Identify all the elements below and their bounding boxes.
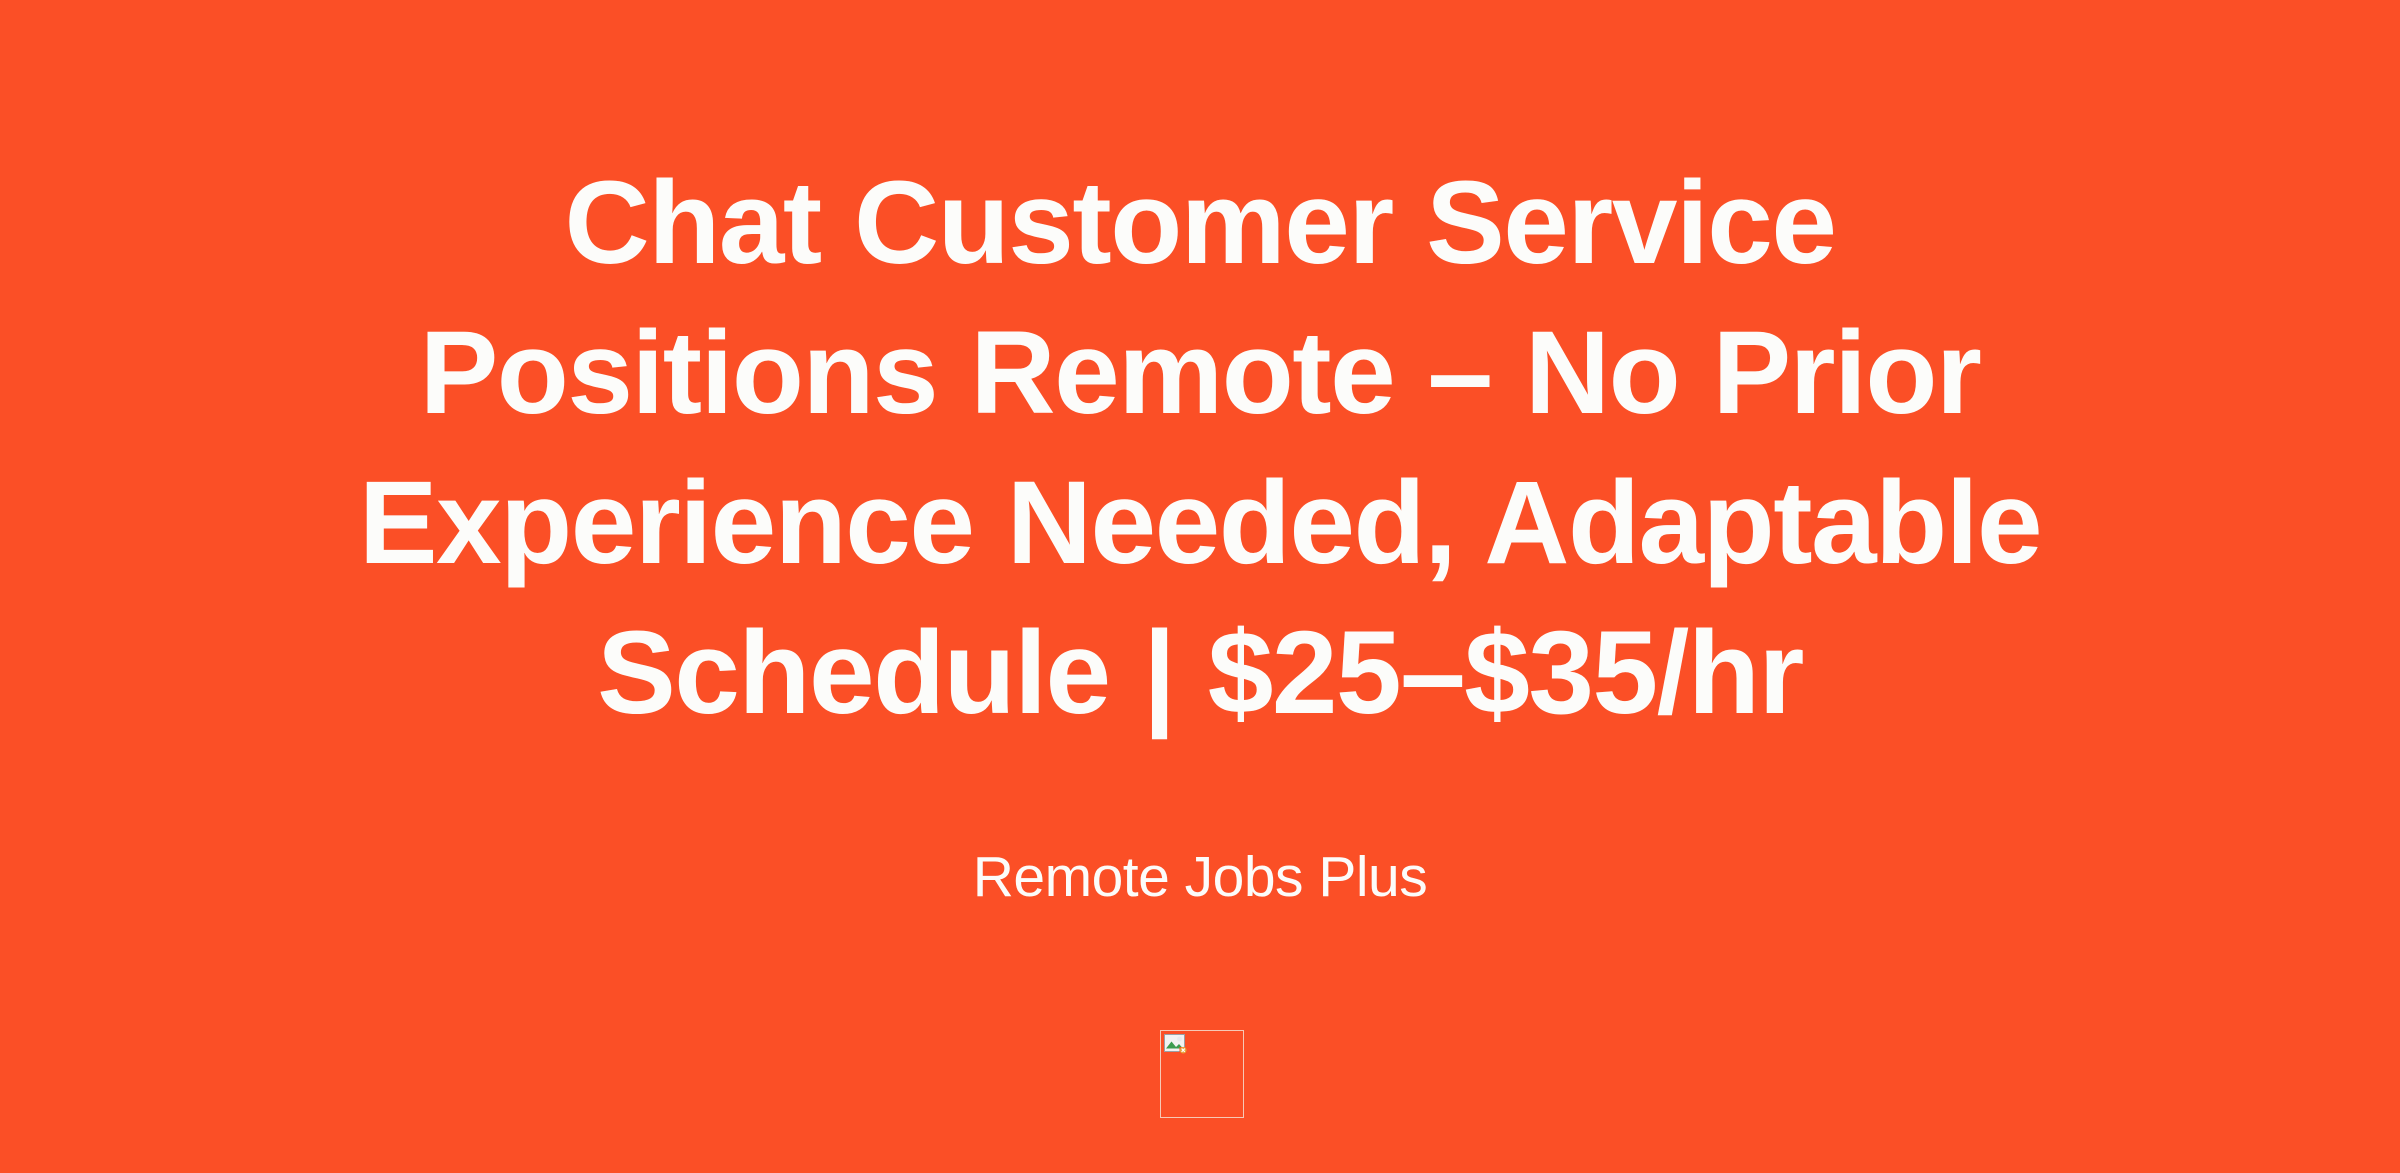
hero-banner: Chat Customer Service Positions Remote –… — [0, 0, 2400, 1173]
broken-image-icon — [1164, 1034, 1190, 1058]
broken-image-placeholder[interactable] — [1160, 1030, 1244, 1118]
page-title: Chat Customer Service Positions Remote –… — [320, 148, 2080, 748]
hero-media-slot — [1160, 1030, 1244, 1118]
hero-subtitle: Remote Jobs Plus — [973, 841, 1428, 913]
